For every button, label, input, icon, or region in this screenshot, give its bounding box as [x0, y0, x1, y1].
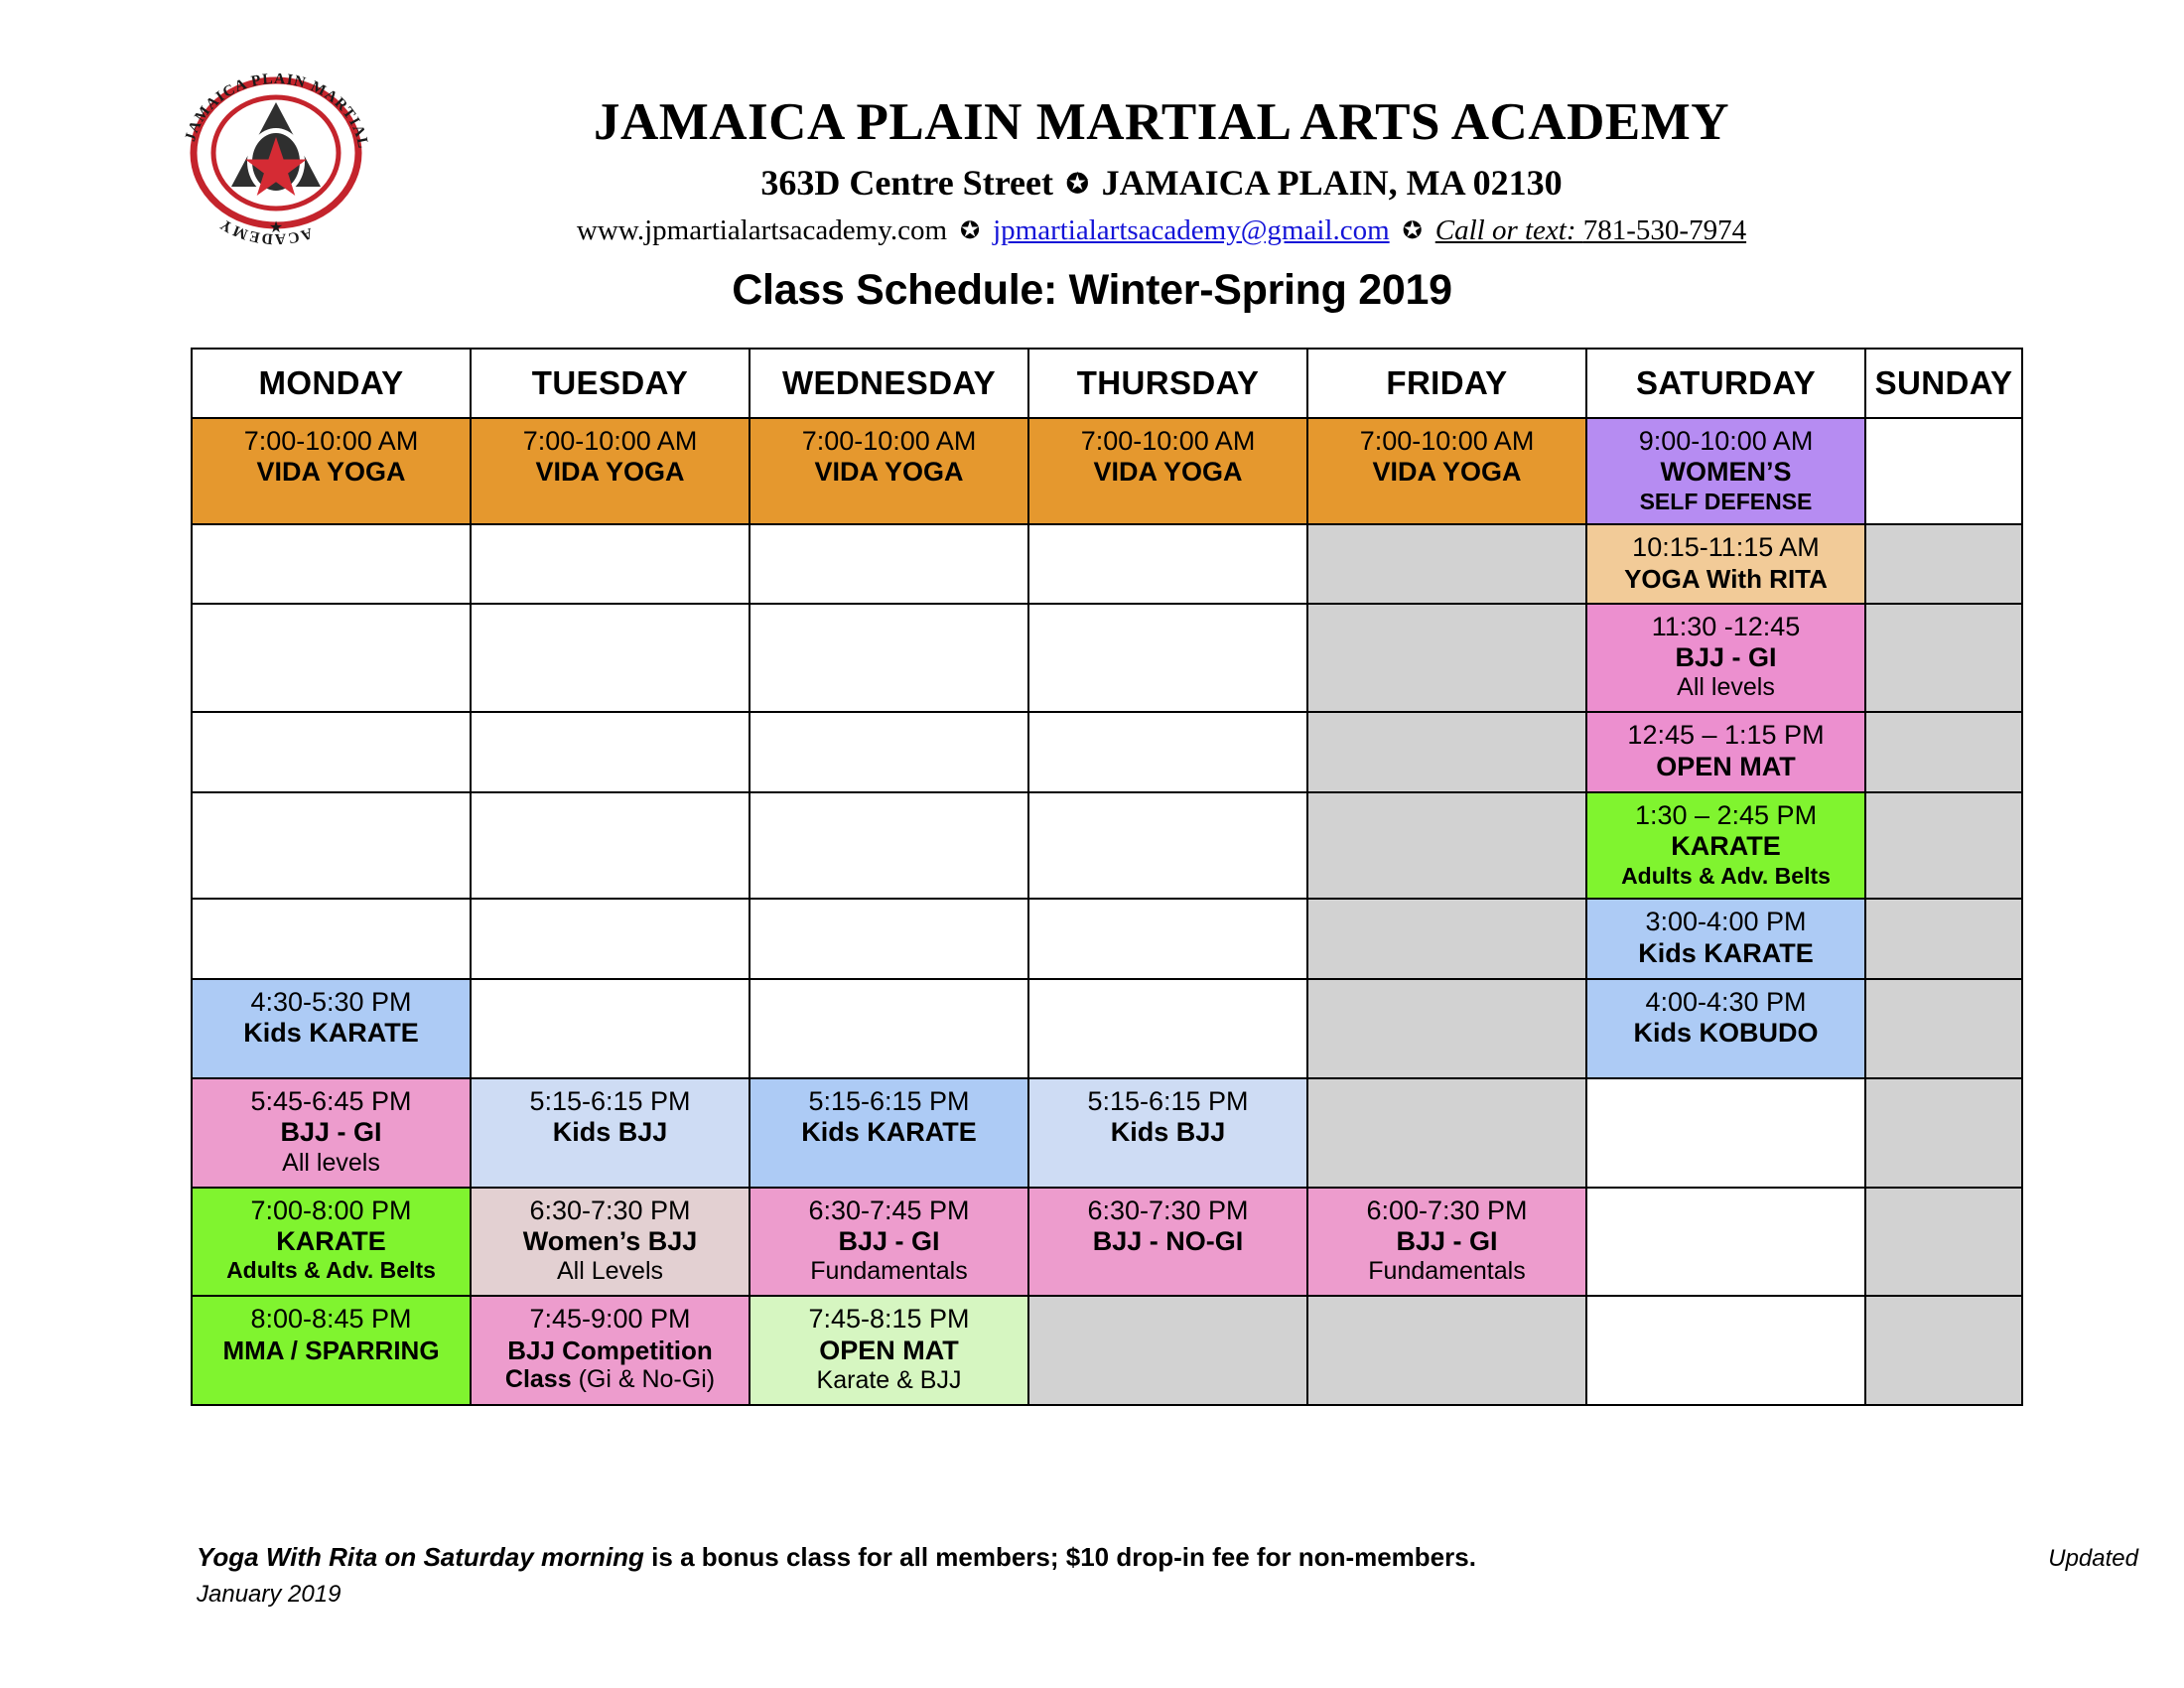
column-header-wednesday: WEDNESDAY: [750, 349, 1028, 418]
class-name: BJJ - GI: [198, 1117, 465, 1148]
class-cell-saturday[interactable]: 4:00-4:30 PMKids KOBUDO: [1586, 979, 1865, 1078]
address-city: JAMAICA PLAIN, MA 02130: [1102, 163, 1563, 203]
class-time: 5:45-6:45 PM: [198, 1086, 465, 1117]
class-detail: Fundamentals: [1313, 1257, 1580, 1286]
table-row: 1:30 – 2:45 PMKARATEAdults & Adv. Belts: [192, 792, 2022, 899]
class-name: VIDA YOGA: [1034, 457, 1301, 488]
class-name: Kids KOBUDO: [1592, 1018, 1859, 1049]
table-row: 11:30 -12:45BJJ - GIAll levels: [192, 604, 2022, 713]
class-entry: 6:30-7:30 PMBJJ - NO-GI: [1029, 1189, 1306, 1296]
empty-cell-friday: [1307, 712, 1586, 792]
empty-cell-sunday: [1865, 524, 2022, 603]
table-row: 12:45 – 1:15 PMOPEN MAT: [192, 712, 2022, 792]
table-row: 8:00-8:45 PMMMA / SPARRING7:45-9:00 PMBJ…: [192, 1296, 2022, 1405]
empty-cell-tuesday: [471, 604, 750, 713]
class-name: BJJ - GI: [1592, 642, 1859, 673]
column-header-saturday: SATURDAY: [1586, 349, 1865, 418]
footer-block: Yoga With Rita on Saturday morning is a …: [197, 1541, 2023, 1609]
empty-cell-friday: [1307, 524, 1586, 603]
class-entry: 6:00-7:30 PMBJJ - GIFundamentals: [1308, 1189, 1585, 1296]
empty-cell-wednesday: [750, 792, 1028, 899]
empty-cell-wednesday: [750, 899, 1028, 979]
class-name: YOGA With RITA: [1592, 564, 1859, 594]
class-time: 7:00-10:00 AM: [1034, 426, 1301, 457]
class-entry: 7:00-10:00 AMVIDA YOGA: [472, 419, 749, 523]
star-bullet-icon: ✪: [960, 218, 980, 244]
class-time: 7:00-8:00 PM: [198, 1196, 465, 1226]
empty-cell-sunday: [1865, 1078, 2022, 1188]
phone-label: Call or text:: [1435, 214, 1576, 246]
column-header-monday: MONDAY: [192, 349, 471, 418]
footer-note-rest: is a bonus class for all members; $10 dr…: [644, 1542, 1476, 1572]
empty-cell-tuesday: [471, 524, 750, 603]
class-entry: 9:00-10:00 AMWOMEN’SSELF DEFENSE: [1587, 419, 1864, 523]
empty-cell-wednesday: [750, 604, 1028, 713]
footer-note-emphasis: Yoga With Rita on Saturday morning: [197, 1542, 644, 1572]
empty-cell-sunday: [1865, 979, 2022, 1078]
class-cell-saturday[interactable]: 12:45 – 1:15 PMOPEN MAT: [1586, 712, 1865, 792]
svg-text:★: ★: [269, 219, 283, 236]
class-name: VIDA YOGA: [477, 457, 744, 488]
class-entry: 11:30 -12:45BJJ - GIAll levels: [1587, 605, 1864, 712]
empty-cell-wednesday: [750, 979, 1028, 1078]
empty-cell-monday: [192, 604, 471, 713]
class-entry: 5:45-6:45 PMBJJ - GIAll levels: [193, 1079, 470, 1187]
class-detail: Adults & Adv. Belts: [1592, 863, 1859, 890]
table-row: 10:15-11:15 AMYOGA With RITA: [192, 524, 2022, 603]
class-detail: SELF DEFENSE: [1592, 489, 1859, 515]
empty-cell-saturday: [1586, 1078, 1865, 1188]
class-entry: 6:30-7:30 PMWomen’s BJJAll Levels: [472, 1189, 749, 1296]
schedule-table-body: 7:00-10:00 AMVIDA YOGA7:00-10:00 AMVIDA …: [192, 418, 2022, 1405]
class-cell-monday[interactable]: 4:30-5:30 PMKids KARATE: [192, 979, 471, 1078]
class-time: 5:15-6:15 PM: [755, 1086, 1023, 1117]
class-cell-wednesday[interactable]: 7:00-10:00 AMVIDA YOGA: [750, 418, 1028, 524]
class-cell-thursday[interactable]: 6:30-7:30 PMBJJ - NO-GI: [1028, 1188, 1307, 1297]
class-entry: 7:45-8:15 PMOPEN MATKarate & BJJ: [751, 1297, 1027, 1404]
class-cell-saturday[interactable]: 1:30 – 2:45 PMKARATEAdults & Adv. Belts: [1586, 792, 1865, 899]
class-time: 12:45 – 1:15 PM: [1592, 720, 1859, 751]
class-entry: 7:00-10:00 AMVIDA YOGA: [751, 419, 1027, 523]
star-bullet-icon: ✪: [1066, 169, 1089, 199]
page-header: JAMAICA PLAIN MARTIAL ARTS ACADEMY ★ JAM…: [0, 0, 2184, 268]
empty-cell-tuesday: [471, 899, 750, 979]
empty-cell-sunday: [1865, 899, 2022, 979]
empty-cell-sunday: [1865, 792, 2022, 899]
class-cell-wednesday[interactable]: 7:45-8:15 PMOPEN MATKarate & BJJ: [750, 1296, 1028, 1405]
academy-logo: JAMAICA PLAIN MARTIAL ARTS ACADEMY ★: [167, 58, 385, 248]
class-time: 7:00-10:00 AM: [198, 426, 465, 457]
class-entry: 7:00-10:00 AMVIDA YOGA: [1308, 419, 1585, 523]
class-detail: All Levels: [477, 1257, 744, 1286]
class-name: BJJ Competition: [477, 1336, 744, 1365]
header-text-block: JAMAICA PLAIN MARTIAL ARTS ACADEMY 363D …: [387, 95, 1936, 247]
class-time: 8:00-8:45 PM: [198, 1304, 465, 1335]
class-name: WOMEN’S: [1592, 457, 1859, 488]
column-header-thursday: THURSDAY: [1028, 349, 1307, 418]
class-cell-tuesday[interactable]: 7:45-9:00 PMBJJ CompetitionClass (Gi & N…: [471, 1296, 750, 1405]
class-cell-thursday[interactable]: 7:00-10:00 AMVIDA YOGA: [1028, 418, 1307, 524]
updated-label: Updated: [2048, 1545, 2138, 1573]
contact-line: www.jpmartialartsacademy.com✪jpmartialar…: [387, 214, 1936, 247]
empty-cell-thursday: [1028, 524, 1307, 603]
class-entry: 3:00-4:00 PMKids KARATE: [1587, 900, 1864, 978]
empty-cell-wednesday: [750, 524, 1028, 603]
class-name: VIDA YOGA: [755, 457, 1023, 488]
class-time: 9:00-10:00 AM: [1592, 426, 1859, 457]
class-name: OPEN MAT: [755, 1336, 1023, 1366]
class-time: 6:30-7:45 PM: [755, 1196, 1023, 1226]
class-entry: 4:30-5:30 PMKids KARATE: [193, 980, 470, 1077]
class-name: BJJ - NO-GI: [1034, 1226, 1301, 1257]
phone-number: 781-530-7974: [1583, 214, 1746, 246]
empty-cell-friday: [1307, 899, 1586, 979]
class-time: 6:30-7:30 PM: [1034, 1196, 1301, 1226]
class-cell-monday[interactable]: 7:00-10:00 AMVIDA YOGA: [192, 418, 471, 524]
class-name: Kids KARATE: [198, 1018, 465, 1049]
address-street: 363D Centre Street: [760, 163, 1053, 203]
empty-cell-thursday: [1028, 1296, 1307, 1405]
class-name: Kids KARATE: [755, 1117, 1023, 1148]
class-time: 11:30 -12:45: [1592, 612, 1859, 642]
star-bullet-icon: ✪: [1403, 218, 1423, 244]
empty-cell-saturday: [1586, 1296, 1865, 1405]
phone-text: Call or text: 781-530-7974: [1435, 214, 1746, 246]
footer-note: Yoga With Rita on Saturday morning is a …: [197, 1541, 2023, 1574]
empty-cell-tuesday: [471, 712, 750, 792]
class-entry: 1:30 – 2:45 PMKARATEAdults & Adv. Belts: [1587, 793, 1864, 898]
class-name: VIDA YOGA: [198, 457, 465, 488]
class-cell-saturday[interactable]: 9:00-10:00 AMWOMEN’SSELF DEFENSE: [1586, 418, 1865, 524]
class-cell-friday[interactable]: 6:00-7:30 PMBJJ - GIFundamentals: [1307, 1188, 1586, 1297]
class-detail: All levels: [1592, 673, 1859, 702]
class-name: KARATE: [1592, 831, 1859, 862]
class-name: Kids KARATE: [1592, 938, 1859, 969]
class-time: 6:30-7:30 PM: [477, 1196, 744, 1226]
class-entry: 5:15-6:15 PMKids BJJ: [1029, 1079, 1306, 1187]
class-detail: Class (Gi & No-Gi): [477, 1365, 744, 1394]
address-line: 363D Centre Street✪JAMAICA PLAIN, MA 021…: [387, 162, 1936, 204]
class-time: 6:00-7:30 PM: [1313, 1196, 1580, 1226]
empty-cell-monday: [192, 899, 471, 979]
organization-title: JAMAICA PLAIN MARTIAL ARTS ACADEMY: [387, 95, 1936, 151]
empty-cell-friday: [1307, 1296, 1586, 1405]
empty-cell-thursday: [1028, 712, 1307, 792]
class-cell-tuesday[interactable]: 7:00-10:00 AMVIDA YOGA: [471, 418, 750, 524]
class-cell-friday[interactable]: 7:00-10:00 AMVIDA YOGA: [1307, 418, 1586, 524]
class-detail: Fundamentals: [755, 1257, 1023, 1286]
class-entry: 4:00-4:30 PMKids KOBUDO: [1587, 980, 1864, 1077]
table-header-row: MONDAY TUESDAY WEDNESDAY THURSDAY FRIDAY…: [192, 349, 2022, 418]
schedule-table-wrap: MONDAY TUESDAY WEDNESDAY THURSDAY FRIDAY…: [191, 348, 2020, 1406]
empty-cell-wednesday: [750, 712, 1028, 792]
class-time: 7:00-10:00 AM: [477, 426, 744, 457]
table-row: 7:00-10:00 AMVIDA YOGA7:00-10:00 AMVIDA …: [192, 418, 2022, 524]
class-time: 5:15-6:15 PM: [477, 1086, 744, 1117]
class-time: 7:45-9:00 PM: [477, 1304, 744, 1335]
class-detail: All levels: [198, 1149, 465, 1178]
table-row: 7:00-8:00 PMKARATEAdults & Adv. Belts6:3…: [192, 1188, 2022, 1297]
empty-cell-sunday: [1865, 1296, 2022, 1405]
class-entry: 5:15-6:15 PMKids BJJ: [472, 1079, 749, 1187]
empty-cell-friday: [1307, 979, 1586, 1078]
class-entry: 7:00-8:00 PMKARATEAdults & Adv. Belts: [193, 1189, 470, 1296]
class-entry: 8:00-8:45 PMMMA / SPARRING: [193, 1297, 470, 1404]
logo-icon: JAMAICA PLAIN MARTIAL ARTS ACADEMY ★: [167, 58, 385, 248]
class-time: 4:00-4:30 PM: [1592, 987, 1859, 1018]
class-entry: 7:45-9:00 PMBJJ CompetitionClass (Gi & N…: [472, 1297, 749, 1404]
empty-cell-tuesday: [471, 792, 750, 899]
empty-cell-saturday: [1586, 1188, 1865, 1297]
class-time: 10:15-11:15 AM: [1592, 532, 1859, 563]
class-time: 5:15-6:15 PM: [1034, 1086, 1301, 1117]
class-name: VIDA YOGA: [1313, 457, 1580, 488]
empty-cell-sunday: [1865, 418, 2022, 524]
class-name: BJJ - GI: [1313, 1226, 1580, 1257]
empty-cell-sunday: [1865, 1188, 2022, 1297]
empty-cell-sunday: [1865, 604, 2022, 713]
class-time: 7:00-10:00 AM: [1313, 426, 1580, 457]
class-name: OPEN MAT: [1592, 752, 1859, 782]
class-detail: Adults & Adv. Belts: [198, 1257, 465, 1284]
schedule-table: MONDAY TUESDAY WEDNESDAY THURSDAY FRIDAY…: [191, 348, 2023, 1406]
class-entry: 6:30-7:45 PMBJJ - GIFundamentals: [751, 1189, 1027, 1296]
class-name: Kids BJJ: [477, 1117, 744, 1148]
empty-cell-thursday: [1028, 792, 1307, 899]
class-name: Kids BJJ: [1034, 1117, 1301, 1148]
empty-cell-tuesday: [471, 979, 750, 1078]
class-cell-monday[interactable]: 7:00-8:00 PMKARATEAdults & Adv. Belts: [192, 1188, 471, 1297]
class-time: 7:45-8:15 PM: [755, 1304, 1023, 1335]
column-header-tuesday: TUESDAY: [471, 349, 750, 418]
class-cell-tuesday[interactable]: 5:15-6:15 PMKids BJJ: [471, 1078, 750, 1188]
class-cell-saturday[interactable]: 10:15-11:15 AMYOGA With RITA: [1586, 524, 1865, 603]
class-time: 3:00-4:00 PM: [1592, 907, 1859, 937]
table-row: 4:30-5:30 PMKids KARATE4:00-4:30 PMKids …: [192, 979, 2022, 1078]
table-row: 5:45-6:45 PMBJJ - GIAll levels5:15-6:15 …: [192, 1078, 2022, 1188]
class-entry: 7:00-10:00 AMVIDA YOGA: [193, 419, 470, 523]
class-cell-tuesday[interactable]: 6:30-7:30 PMWomen’s BJJAll Levels: [471, 1188, 750, 1297]
class-detail: Karate & BJJ: [755, 1366, 1023, 1395]
table-row: 3:00-4:00 PMKids KARATE: [192, 899, 2022, 979]
class-cell-monday[interactable]: 8:00-8:45 PMMMA / SPARRING: [192, 1296, 471, 1405]
empty-cell-monday: [192, 712, 471, 792]
class-cell-wednesday[interactable]: 6:30-7:45 PMBJJ - GIFundamentals: [750, 1188, 1028, 1297]
class-cell-thursday[interactable]: 5:15-6:15 PMKids BJJ: [1028, 1078, 1307, 1188]
class-name: KARATE: [198, 1226, 465, 1257]
class-entry: 12:45 – 1:15 PMOPEN MAT: [1587, 713, 1864, 791]
footer-date: January 2019: [197, 1581, 2023, 1609]
email-link[interactable]: jpmartialartsacademy@gmail.com: [993, 214, 1390, 246]
empty-cell-monday: [192, 792, 471, 899]
empty-cell-thursday: [1028, 604, 1307, 713]
empty-cell-sunday: [1865, 712, 2022, 792]
empty-cell-friday: [1307, 604, 1586, 713]
column-header-friday: FRIDAY: [1307, 349, 1586, 418]
class-cell-wednesday[interactable]: 5:15-6:15 PMKids KARATE: [750, 1078, 1028, 1188]
class-entry: 7:00-10:00 AMVIDA YOGA: [1029, 419, 1306, 523]
class-name: MMA / SPARRING: [198, 1336, 465, 1365]
class-entry: 10:15-11:15 AMYOGA With RITA: [1587, 525, 1864, 602]
class-entry: 5:15-6:15 PMKids KARATE: [751, 1079, 1027, 1187]
class-cell-saturday[interactable]: 11:30 -12:45BJJ - GIAll levels: [1586, 604, 1865, 713]
column-header-sunday: SUNDAY: [1865, 349, 2022, 418]
page-title: Class Schedule: Winter-Spring 2019: [0, 266, 2184, 315]
class-name: Women’s BJJ: [477, 1226, 744, 1257]
class-time: 1:30 – 2:45 PM: [1592, 800, 1859, 831]
empty-cell-thursday: [1028, 899, 1307, 979]
class-time: 7:00-10:00 AM: [755, 426, 1023, 457]
empty-cell-friday: [1307, 792, 1586, 899]
schedule-page: JAMAICA PLAIN MARTIAL ARTS ACADEMY ★ JAM…: [0, 0, 2184, 1688]
class-cell-monday[interactable]: 5:45-6:45 PMBJJ - GIAll levels: [192, 1078, 471, 1188]
class-name: BJJ - GI: [755, 1226, 1023, 1257]
empty-cell-friday: [1307, 1078, 1586, 1188]
class-time: 4:30-5:30 PM: [198, 987, 465, 1018]
website-text: www.jpmartialartsacademy.com: [577, 214, 947, 246]
empty-cell-thursday: [1028, 979, 1307, 1078]
empty-cell-monday: [192, 524, 471, 603]
class-cell-saturday[interactable]: 3:00-4:00 PMKids KARATE: [1586, 899, 1865, 979]
